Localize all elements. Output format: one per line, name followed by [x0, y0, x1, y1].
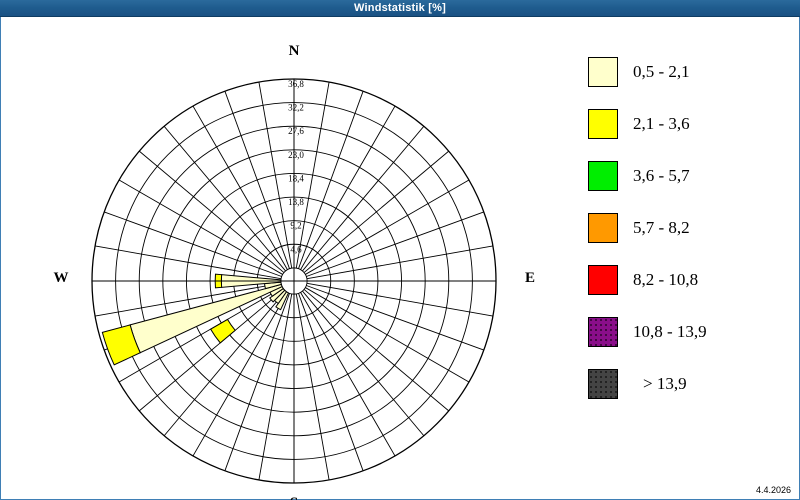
- legend-item-label: > 13,9: [643, 369, 687, 399]
- grid-spoke: [307, 283, 493, 316]
- grid-spoke: [306, 285, 483, 350]
- wind-rose-petal-segment: [211, 319, 236, 342]
- radial-tick-label: 32,2: [288, 103, 304, 113]
- legend-item[interactable]: 0,5 - 2,1: [587, 47, 793, 99]
- grid-spoke: [304, 151, 449, 272]
- grid-spoke: [225, 91, 290, 268]
- wind-rose-chart: 4,69,213,818,423,027,632,236,8 N E S W: [1, 17, 561, 498]
- legend-color-swatch: [588, 109, 618, 139]
- radial-tick-labels: 4,69,213,818,423,027,632,236,8: [288, 79, 304, 254]
- grid-spoke: [95, 246, 281, 279]
- grid-spoke: [104, 212, 281, 277]
- legend-item[interactable]: 8,2 - 10,8: [587, 255, 793, 307]
- grid-spoke: [305, 180, 469, 274]
- legend-item[interactable]: > 13,9: [587, 359, 793, 411]
- grid-spoke: [164, 126, 285, 271]
- wind-rose-petals: [102, 274, 288, 365]
- legend-color-swatch: [588, 213, 618, 243]
- legend-item-label: 8,2 - 10,8: [633, 265, 698, 295]
- legend-item[interactable]: 5,7 - 8,2: [587, 203, 793, 255]
- legend-item[interactable]: 10,8 - 13,9: [587, 307, 793, 359]
- grid-spoke: [304, 289, 449, 410]
- grid-spoke: [139, 151, 284, 272]
- grid-spoke: [306, 212, 483, 277]
- grid-spoke: [302, 291, 423, 436]
- legend-color-swatch: [588, 161, 618, 191]
- speed-bin-legend: 0,5 - 2,12,1 - 3,63,6 - 5,75,7 - 8,28,2 …: [587, 47, 793, 411]
- legend-item-label: 5,7 - 8,2: [633, 213, 690, 243]
- legend-color-swatch: [588, 369, 618, 399]
- radial-tick-label: 13,8: [288, 197, 304, 207]
- grid-spoke: [259, 82, 292, 268]
- grid-spoke: [307, 246, 493, 279]
- compass-label-east: E: [515, 270, 545, 287]
- window-titlebar: Windstatistik [%]: [0, 0, 800, 17]
- chart-date: 4.4.2026: [756, 485, 791, 495]
- compass-label-west: W: [46, 270, 76, 287]
- radial-tick-label: 23,0: [288, 150, 304, 160]
- windstatistik-window: Windstatistik [%] 4,69,213,818,423,027,6…: [0, 0, 800, 500]
- radial-tick-label: 36,8: [288, 79, 304, 89]
- legend-item-label: 10,8 - 13,9: [633, 317, 707, 347]
- window-title: Windstatistik [%]: [0, 0, 800, 17]
- grid-spoke: [298, 91, 363, 268]
- legend-item[interactable]: 3,6 - 5,7: [587, 151, 793, 203]
- legend-color-swatch: [588, 57, 618, 87]
- compass-label-north: N: [279, 43, 309, 60]
- window-client-area: 4,69,213,818,423,027,632,236,8 N E S W 0…: [0, 17, 800, 500]
- radial-tick-label: 27,6: [288, 126, 304, 136]
- legend-item[interactable]: 2,1 - 3,6: [587, 99, 793, 151]
- legend-color-swatch: [588, 265, 618, 295]
- legend-color-swatch: [588, 317, 618, 347]
- grid-spoke: [119, 180, 283, 274]
- grid-spoke: [302, 126, 423, 271]
- radial-tick-label: 4,6: [290, 244, 302, 254]
- legend-item-label: 3,6 - 5,7: [633, 161, 690, 191]
- grid-spoke: [305, 288, 469, 382]
- radial-tick-label: 9,2: [290, 221, 301, 231]
- grid-spoke: [301, 292, 395, 456]
- legend-item-label: 0,5 - 2,1: [633, 57, 690, 87]
- grid-spoke: [259, 294, 292, 480]
- grid-spoke: [296, 294, 329, 480]
- compass-label-south: S: [279, 495, 309, 500]
- grid-spoke: [301, 106, 395, 270]
- legend-item-label: 2,1 - 3,6: [633, 109, 690, 139]
- polar-axes: [92, 79, 496, 483]
- grid-spoke: [298, 293, 363, 470]
- radial-tick-label: 18,4: [288, 173, 304, 183]
- wind-rose-svg: 4,69,213,818,423,027,632,236,8: [1, 17, 561, 498]
- grid-spoke: [193, 106, 287, 270]
- grid-spoke: [225, 293, 290, 470]
